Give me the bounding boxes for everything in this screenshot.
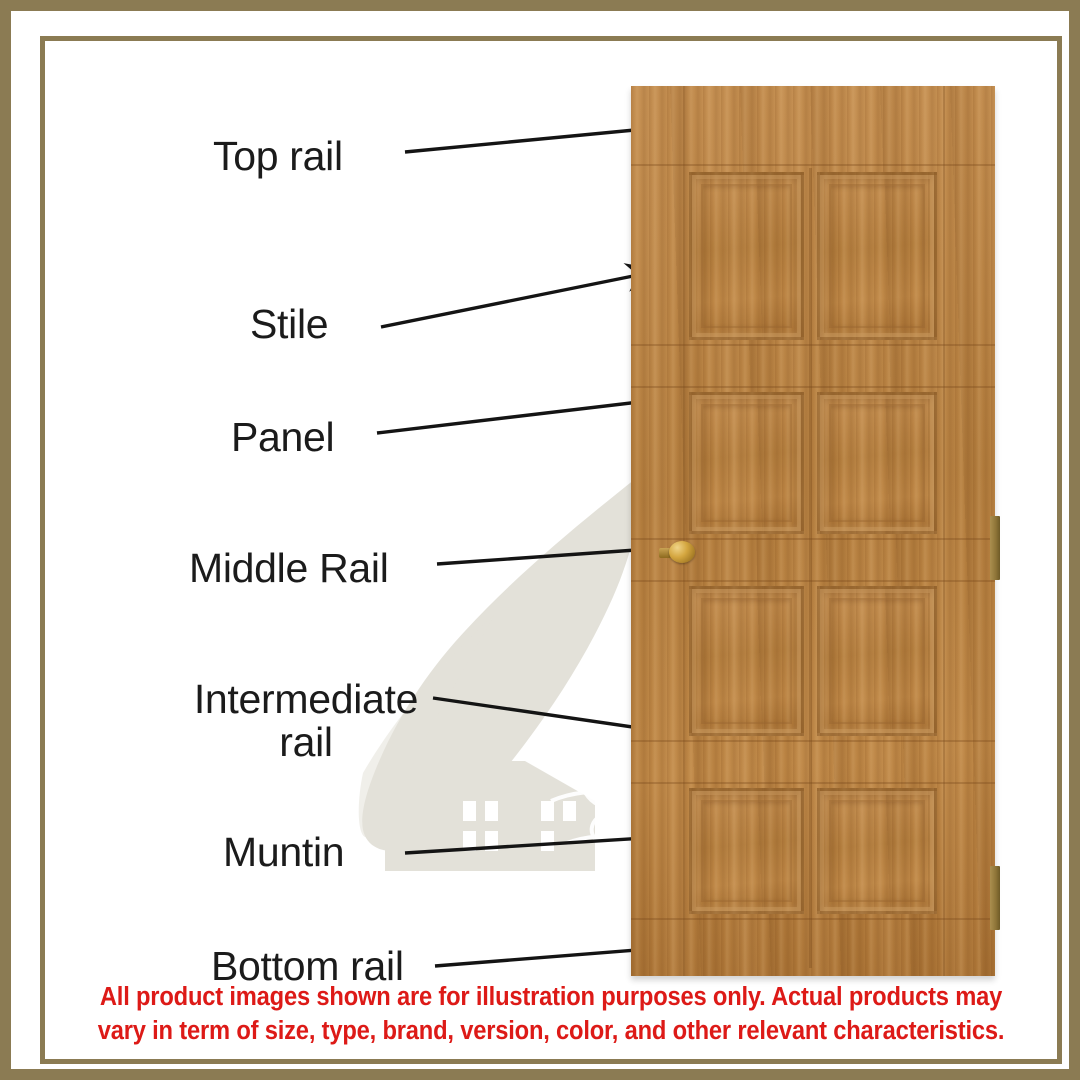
intermediate-rail-bevel — [631, 344, 995, 346]
panel-top-right — [817, 172, 937, 340]
panel-middle-right — [817, 392, 937, 534]
door-hinge-upper — [990, 516, 1000, 580]
door-hinge-lower — [990, 866, 1000, 930]
label-intermediate-rail-line1: Intermediate — [194, 676, 418, 722]
door-illustration — [631, 86, 995, 978]
panel-bottom-left — [689, 788, 804, 914]
label-stile: Stile — [250, 303, 328, 346]
disclaimer-text: All product images shown are for illustr… — [80, 981, 1021, 1048]
label-top-rail: Top rail — [213, 135, 343, 178]
label-panel: Panel — [231, 416, 334, 459]
lower-rail-bevel-2 — [631, 782, 995, 784]
disclaimer-line-2: vary in term of size, type, brand, versi… — [80, 1015, 1021, 1049]
label-intermediate-rail-line2: rail — [279, 719, 332, 765]
lower-rail-bevel — [631, 740, 995, 742]
panel-lower-right — [817, 586, 937, 736]
frame-white-gap: Top rail Stile Panel Middle Rail Interme… — [11, 11, 1069, 1069]
label-muntin: Muntin — [223, 831, 344, 874]
panel-top-left — [689, 172, 804, 340]
disclaimer-line-1: All product images shown are for illustr… — [80, 981, 1021, 1015]
label-intermediate-rail: Intermediate rail — [171, 678, 441, 764]
left-stile-bevel — [683, 86, 685, 976]
top-rail-bevel — [631, 164, 995, 166]
middle-rail-bevel-2 — [631, 580, 995, 582]
panel-bottom-right — [817, 788, 937, 914]
right-stile-bevel — [943, 86, 945, 976]
arrow-stile — [381, 271, 658, 327]
panel-lower-left — [689, 586, 804, 736]
door-knob-icon — [669, 541, 695, 563]
label-middle-rail: Middle Rail — [189, 547, 389, 590]
outer-frame-border: Top rail Stile Panel Middle Rail Interme… — [0, 0, 1080, 1080]
central-muntin — [809, 168, 812, 968]
panel-middle-left — [689, 392, 804, 534]
intermediate-rail-bevel-2 — [631, 386, 995, 388]
door-slab — [631, 86, 995, 976]
middle-rail-bevel — [631, 538, 995, 540]
diagram-canvas: Top rail Stile Panel Middle Rail Interme… — [45, 41, 1057, 1059]
bottom-rail-bevel — [631, 918, 995, 920]
inner-frame-border: Top rail Stile Panel Middle Rail Interme… — [40, 36, 1062, 1064]
